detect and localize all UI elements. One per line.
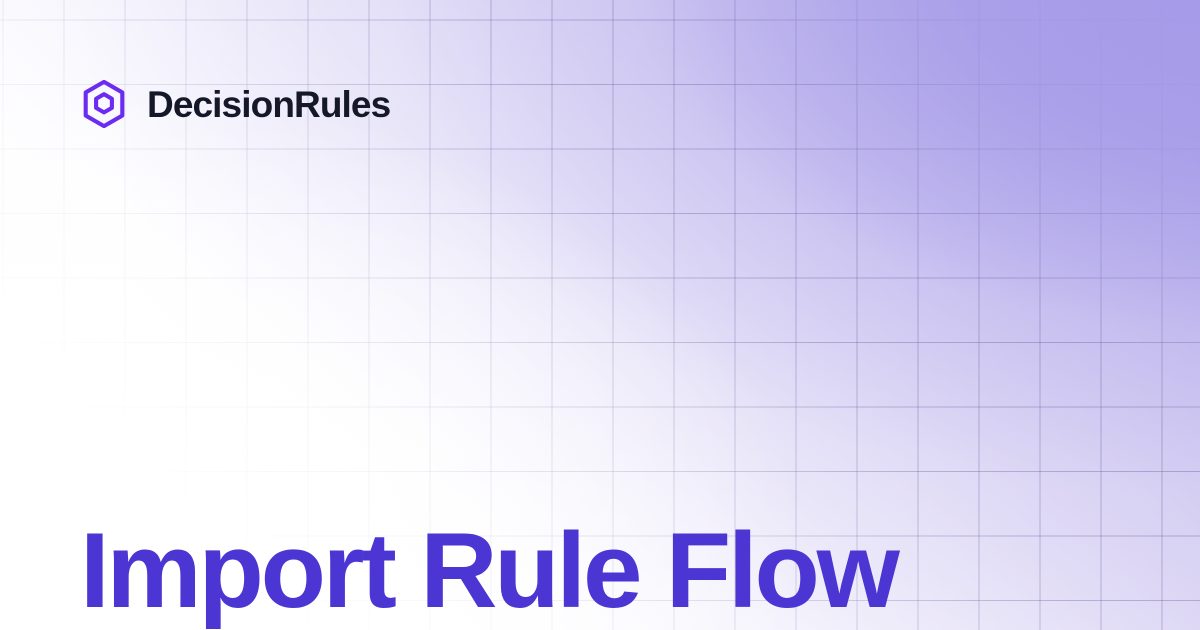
hexagon-ring-icon [82,80,126,128]
brand-lockup: DecisionRules [82,80,390,128]
brand-name: DecisionRules [147,86,390,123]
og-card: DecisionRules Import Rule Flow [0,0,1200,630]
page-title: Import Rule Flow [80,515,897,626]
